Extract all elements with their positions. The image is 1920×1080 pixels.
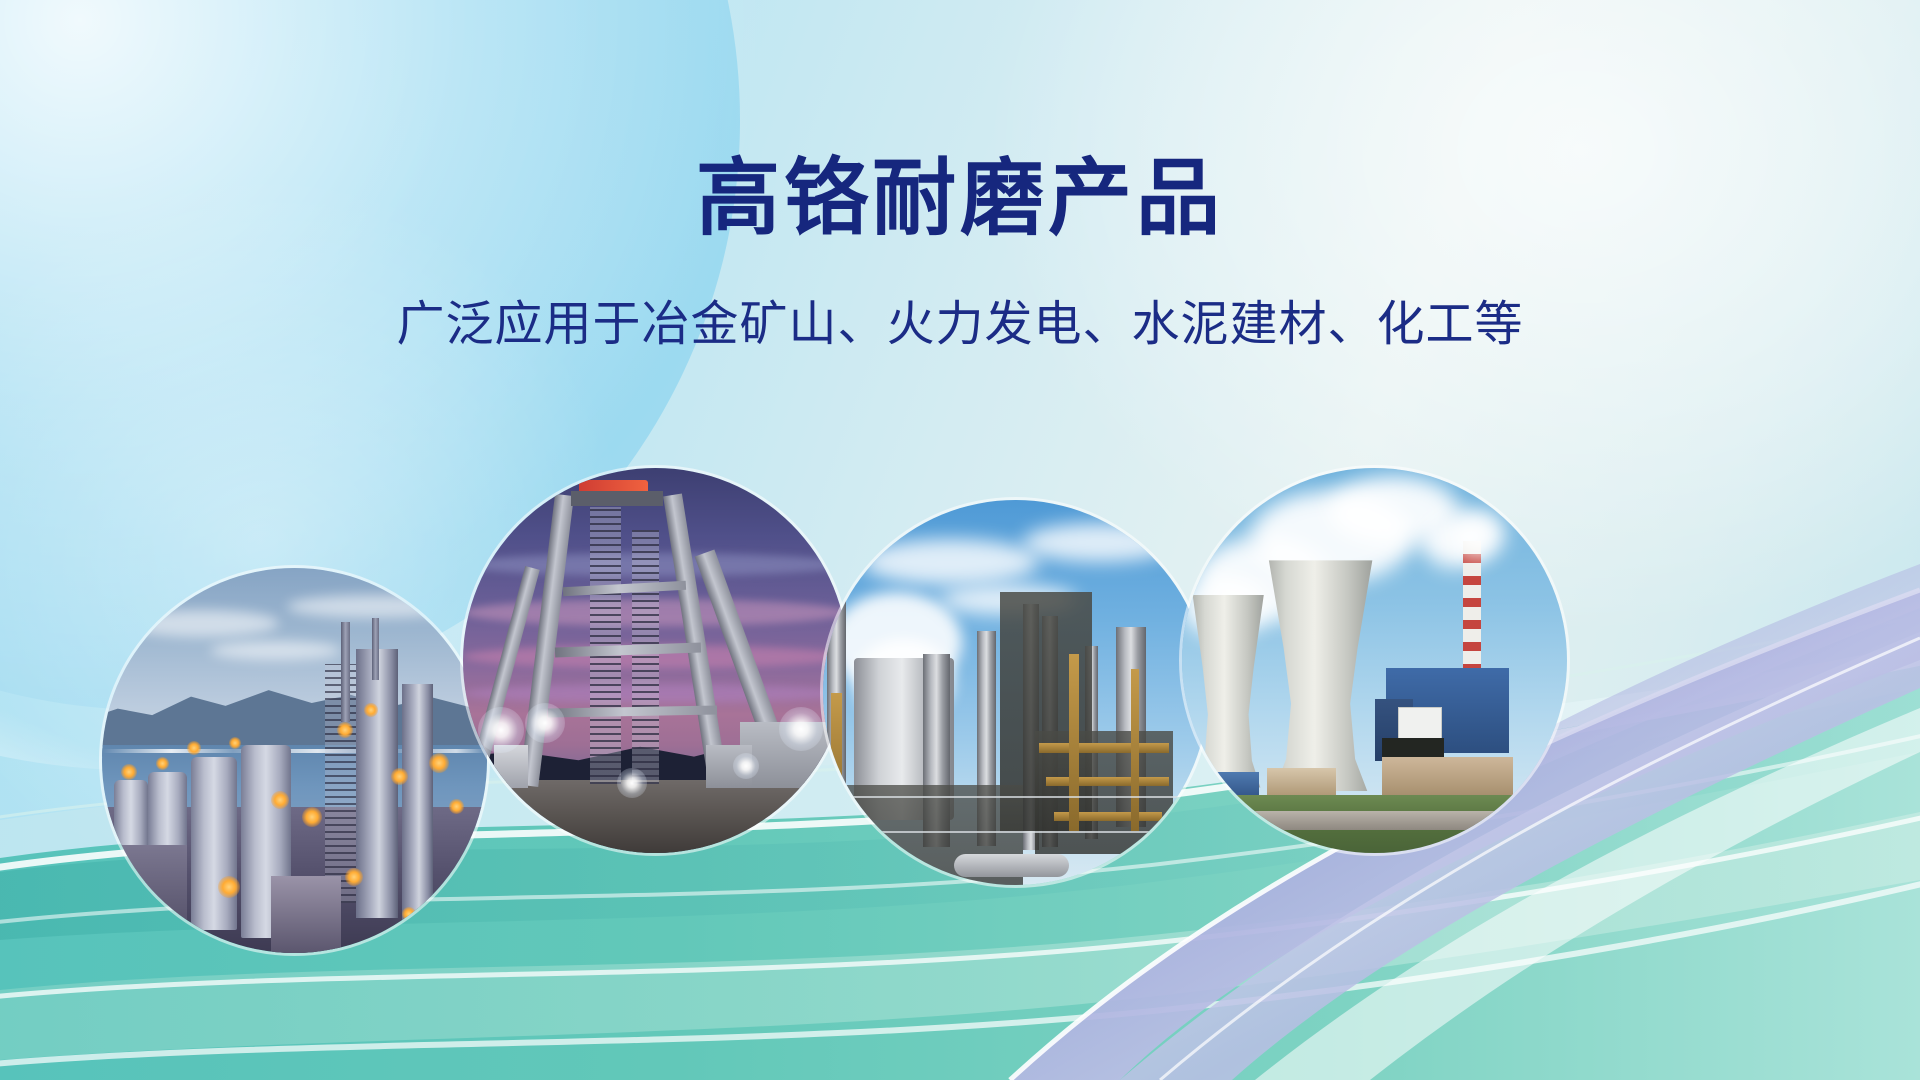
promo-banner: 高铬耐磨产品 广泛应用于冶金矿山、火力发电、水泥建材、化工等 — [0, 0, 1920, 1080]
thermal-power-plant-photo — [1182, 468, 1567, 853]
page-subtitle: 广泛应用于冶金矿山、火力发电、水泥建材、化工等 — [0, 296, 1920, 354]
page-title: 高铬耐磨产品 — [0, 152, 1920, 244]
mine-headframe-photo — [463, 468, 848, 853]
cement-plant-photo — [102, 568, 487, 953]
chemical-refinery-photo — [823, 500, 1208, 885]
